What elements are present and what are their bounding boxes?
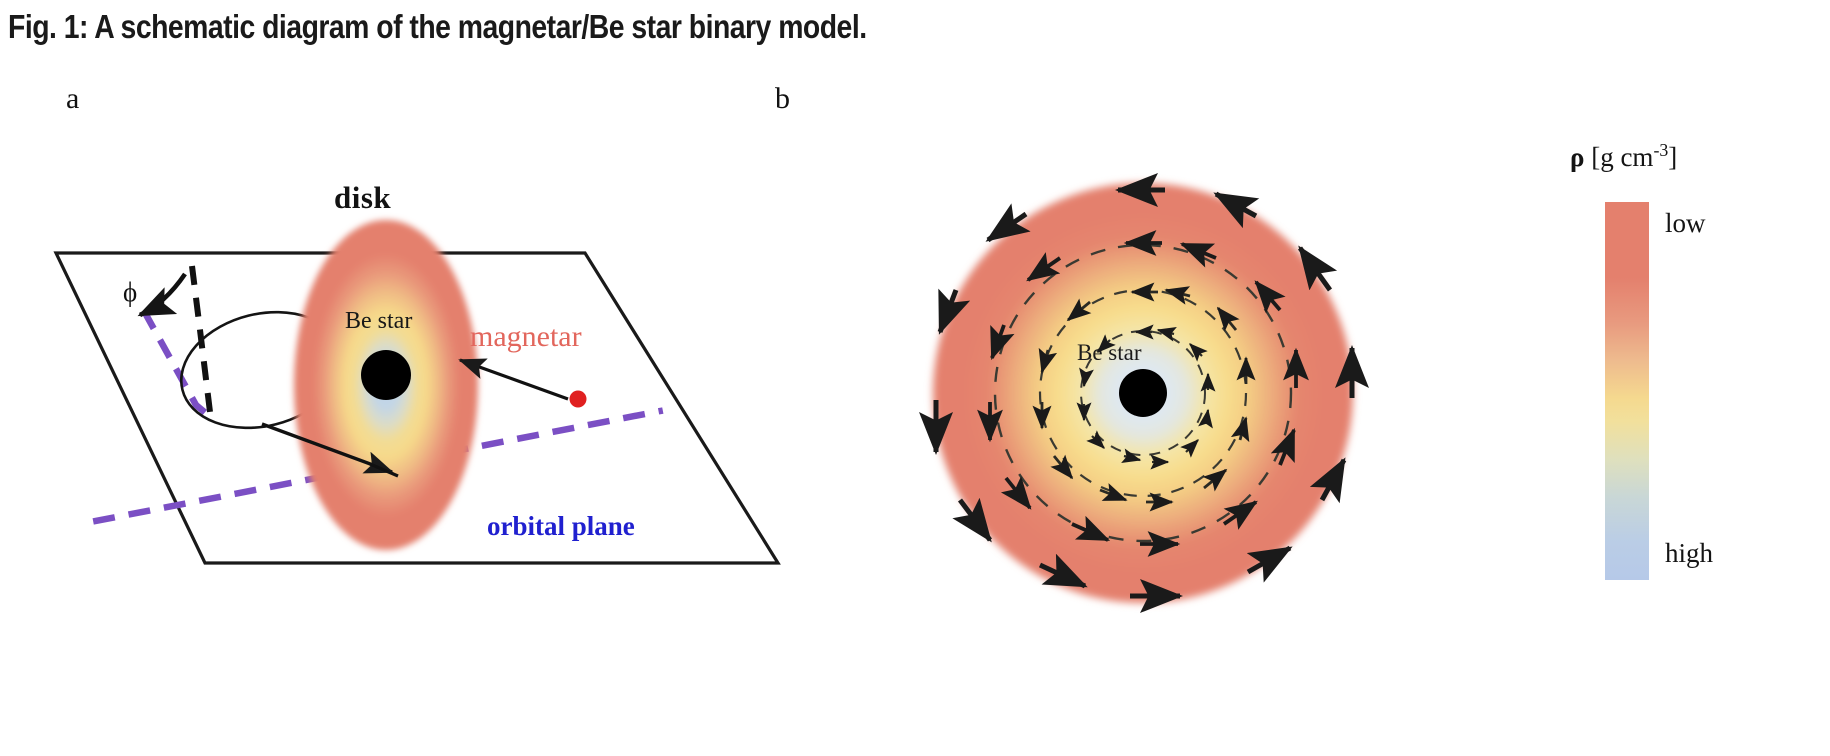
colorbar-label-high: high	[1665, 538, 1713, 569]
colorbar-units-exponent: -3	[1653, 140, 1668, 160]
disk-label: disk	[334, 180, 391, 216]
be-star-label-panel-b: Be star	[1077, 340, 1142, 366]
phi-angle-label: ϕ	[123, 277, 137, 308]
colorbar-title: ρ [g cm-3]	[1570, 140, 1677, 173]
colorbar-label-low: low	[1665, 208, 1706, 239]
density-colorbar-group: ρ [g cm-3] low high	[1560, 140, 1820, 600]
be-star-dot-b	[1119, 369, 1167, 417]
colorbar-symbol: ρ	[1570, 142, 1584, 172]
panel-b-group	[933, 183, 1353, 603]
figure-canvas	[0, 0, 1830, 756]
colorbar-units-prefix: [g cm	[1584, 142, 1653, 172]
be-star-dot-a	[361, 350, 411, 400]
panel-a-group	[56, 220, 778, 563]
colorbar-units-suffix: ]	[1668, 142, 1677, 172]
orbital-plane-label: orbital plane	[487, 511, 635, 542]
magnetar-label: magnetar	[470, 320, 582, 354]
magnetar-dot	[570, 391, 587, 408]
colorbar-gradient-bar	[1605, 202, 1649, 580]
be-star-label-panel-a: Be star	[345, 308, 412, 335]
